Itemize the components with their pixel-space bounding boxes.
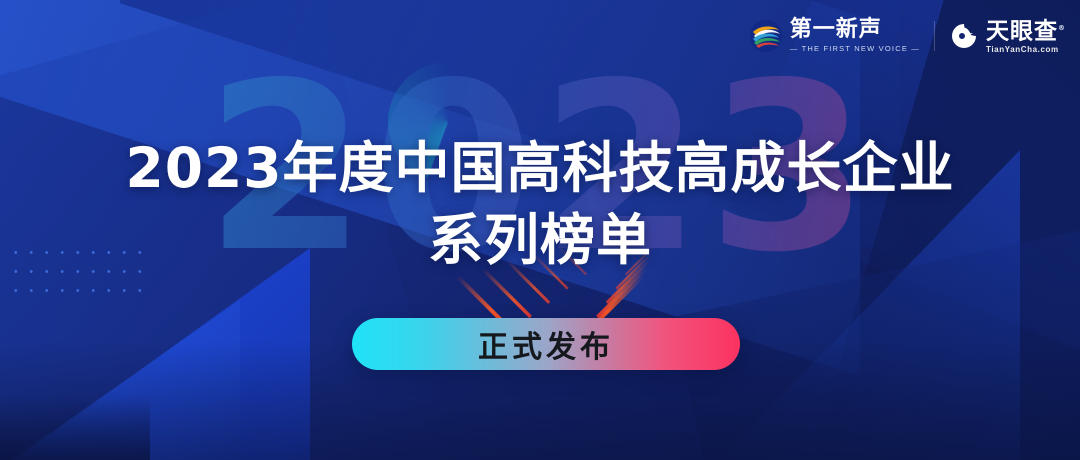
- logo-tianyancha-name: 天眼查®: [986, 17, 1066, 43]
- logo-tianyancha-text: 天眼查® TianYanCha.com: [986, 17, 1066, 56]
- trademark-symbol: ®: [1058, 24, 1066, 32]
- logo-diyixinsheng-tagline: — THE FIRST NEW VOICE —: [790, 43, 920, 54]
- poster-canvas: 2023 2023年度中国高科技高成长企业 系列榜单 正式发布: [0, 0, 1080, 460]
- logo-diyixinsheng[interactable]: 第一新声 — THE FIRST NEW VOICE —: [749, 19, 920, 54]
- title-line-1: 2023年度中国高科技高成长企业: [0, 132, 1080, 204]
- logo-tianyancha-tagline: TianYanCha.com: [986, 44, 1066, 55]
- poster-title: 2023年度中国高科技高成长企业 系列榜单: [0, 132, 1080, 276]
- tianyancha-eye-icon: [949, 21, 979, 51]
- release-badge[interactable]: 正式发布: [352, 318, 740, 370]
- logo-tianyancha[interactable]: 天眼查® TianYanCha.com: [949, 17, 1066, 56]
- logo-diyixinsheng-text: 第一新声 — THE FIRST NEW VOICE —: [790, 19, 920, 54]
- logo-diyixinsheng-name: 第一新声: [790, 19, 920, 41]
- title-line-2: 系列榜单: [0, 204, 1080, 276]
- release-badge-label: 正式发布: [478, 322, 614, 366]
- logo-divider: [934, 21, 935, 51]
- logo-bar: 第一新声 — THE FIRST NEW VOICE — 天眼查® TianYa…: [749, 10, 1066, 62]
- swirl-ribbon-icon: [749, 19, 783, 53]
